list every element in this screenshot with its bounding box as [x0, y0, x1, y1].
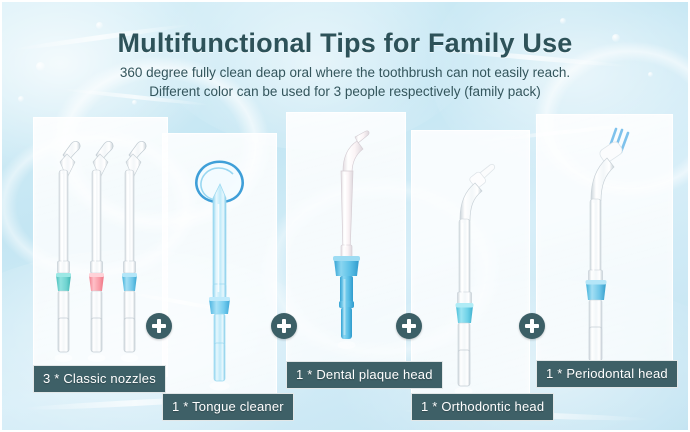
panel-dental-plaque-head[interactable]	[286, 112, 406, 373]
label-tongue-cleaner: 1 * Tongue cleaner	[162, 393, 294, 421]
label-periodontal-head: 1 * Periodontal head	[536, 360, 678, 388]
panel-tongue-cleaner[interactable]	[162, 133, 277, 407]
plus-icon	[146, 313, 172, 339]
plus-icon	[396, 313, 422, 339]
subtitle-line-2: Different color can be used for 3 people…	[0, 82, 690, 101]
page-subtitle: 360 degree fully clean deap oral where t…	[0, 63, 690, 101]
panel-periodontal-head[interactable]	[536, 114, 673, 374]
page-title: Multifunctional Tips for Family Use	[0, 28, 690, 59]
label-orthodontic-head: 1 * Orthodontic head	[411, 393, 554, 421]
plus-icon	[271, 313, 297, 339]
periodontal-head-icon	[537, 115, 672, 373]
label-classic-nozzles: 3 * Classic nozzles	[33, 365, 166, 393]
classic-nozzle-icon	[34, 118, 167, 376]
label-dental-plaque-head: 1 * Dental plaque head	[286, 361, 443, 389]
panel-classic-nozzles[interactable]	[33, 117, 168, 377]
subtitle-line-1: 360 degree fully clean deap oral where t…	[0, 63, 690, 82]
infographic-root: Multifunctional Tips for Family Use 360 …	[0, 0, 690, 432]
plus-icon	[519, 313, 545, 339]
dental-plaque-head-icon	[287, 113, 405, 372]
tongue-cleaner-icon	[163, 134, 276, 406]
